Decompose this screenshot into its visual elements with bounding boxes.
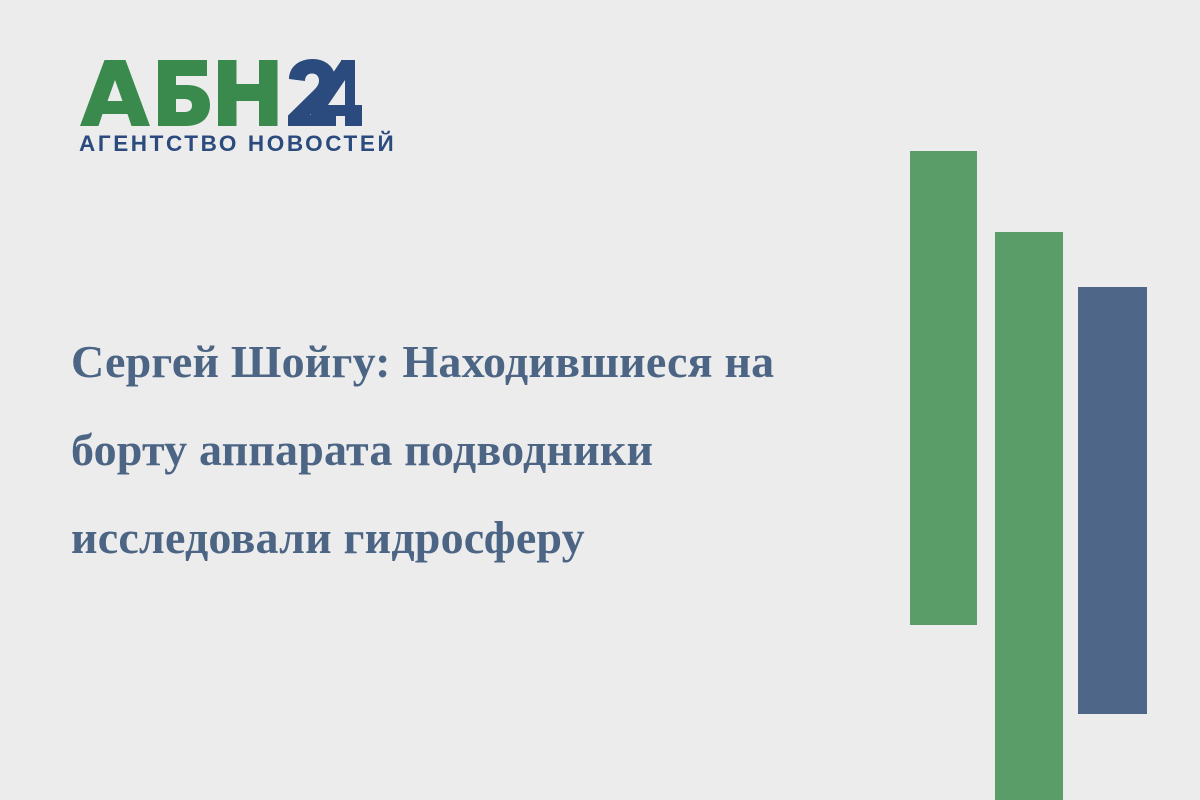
decorative-bar-short-blue bbox=[1078, 287, 1147, 714]
decorative-bar-tall-green bbox=[910, 151, 977, 625]
decorative-bar-bleed-green bbox=[995, 232, 1063, 800]
logo-wordmark-icon bbox=[79, 58, 363, 128]
news-card: АГЕНТСТВО НОВОСТЕЙ Сергей Шойгу: Находив… bbox=[0, 0, 1200, 800]
headline: Сергей Шойгу: Находившиеся на борту аппа… bbox=[71, 318, 861, 582]
logo[interactable]: АГЕНТСТВО НОВОСТЕЙ bbox=[79, 58, 379, 156]
logo-tagline: АГЕНТСТВО НОВОСТЕЙ bbox=[79, 133, 379, 156]
